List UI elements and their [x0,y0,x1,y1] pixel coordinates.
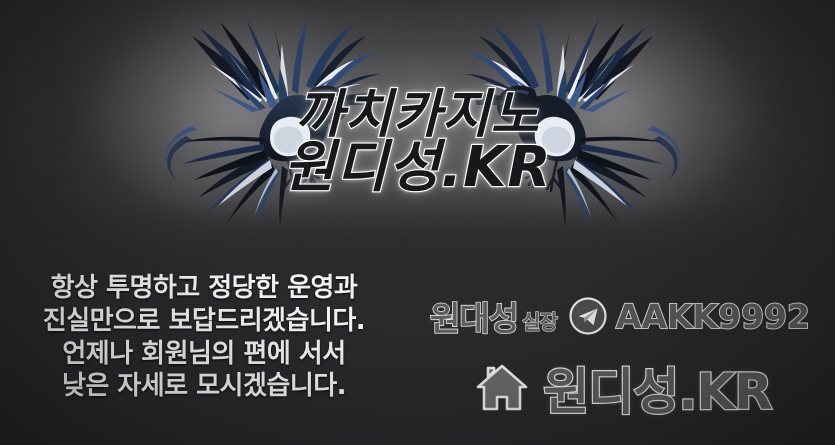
telegram-icon[interactable] [568,296,608,336]
contact-telegram-handle[interactable]: AAKK9992 [616,297,810,336]
domain-row[interactable]: 원디성.KR [420,352,825,424]
slogan-line-2: 진실만으로 보답드리겠습니다. [14,305,394,338]
slogan-line-1: 항상 투명하고 정당한 운영과 [14,272,394,305]
contact-row[interactable]: 원대성 실장 AAKK9992 [415,292,825,340]
slogan-line-3: 언제나 회원님의 편에 서서 [14,338,394,371]
contact-manager-name: 원대성 [430,292,518,340]
contact-manager-role: 실장 [522,306,557,335]
domain-url[interactable]: 원디성.KR [543,352,771,424]
casino-promo-banner: 까치카지노 원디성.KR 항상 투명하고 정당한 운영과 진실만으로 보답드리겠… [0,0,835,445]
home-icon [473,359,531,417]
slogan-line-4: 낮은 자세로 모시겠습니다. [14,370,394,403]
slogan-block: 항상 투명하고 정당한 운영과 진실만으로 보답드리겠습니다. 언제나 회원님의… [14,272,394,403]
